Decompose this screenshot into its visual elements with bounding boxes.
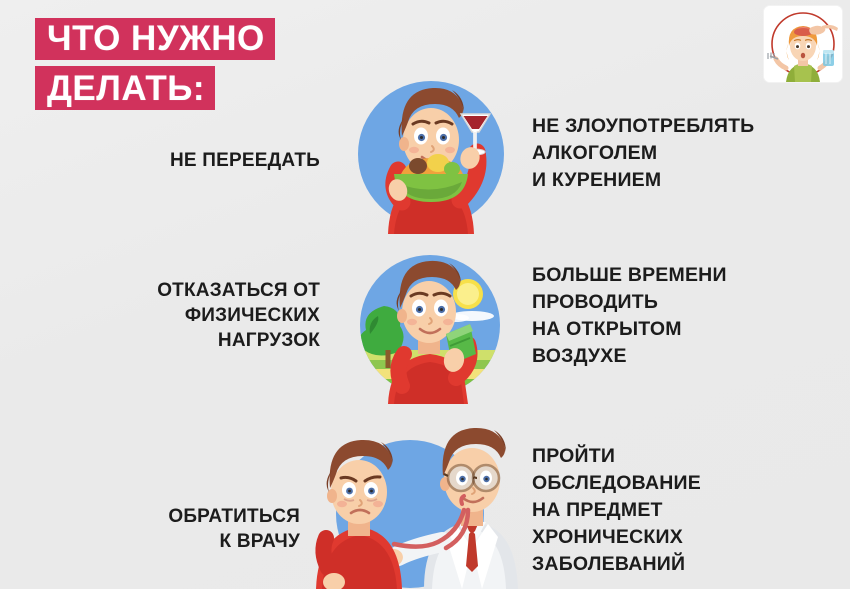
doctor-examining-patient-with-stethoscope-icon <box>306 418 538 589</box>
infographic-poster: ЧТО НУЖНО ДЕЛАТЬ: <box>0 0 850 589</box>
row-1-illustration <box>348 62 514 234</box>
row-1-right-label: НЕ ЗЛОУПОТРЕБЛЯТЬ АЛКОГОЛЕМ И КУРЕНИЕМ <box>532 113 832 194</box>
row-2-left-label: ОТКАЗАТЬСЯ ОТ ФИЗИЧЕСКИХ НАГРУЗОК <box>60 278 320 353</box>
row-2-right-label: БОЛЬШЕ ВРЕМЕНИ ПРОВОДИТЬ НА ОТКРЫТОМ ВОЗ… <box>532 262 832 370</box>
row-1-left-label: НЕ ПЕРЕЕДАТЬ <box>60 148 320 173</box>
title-line-2: ДЕЛАТЬ: <box>35 66 215 110</box>
poster-title: ЧТО НУЖНО ДЕЛАТЬ: <box>35 18 275 110</box>
row-3-illustration <box>306 418 538 589</box>
cartoon-woman-logo-icon <box>764 6 842 82</box>
man-outdoors-with-sun-and-tree-icon <box>344 246 516 404</box>
man-with-food-bowl-and-wine-glass-icon <box>348 62 514 234</box>
row-3-right-label: ПРОЙТИ ОБСЛЕДОВАНИЕ НА ПРЕДМЕТ ХРОНИЧЕСК… <box>532 443 837 578</box>
row-2-illustration <box>344 246 516 404</box>
row-3-left-label: ОБРАТИТЬСЯ К ВРАЧУ <box>60 504 300 554</box>
title-line-1: ЧТО НУЖНО <box>35 18 275 60</box>
brand-logo <box>764 6 842 82</box>
